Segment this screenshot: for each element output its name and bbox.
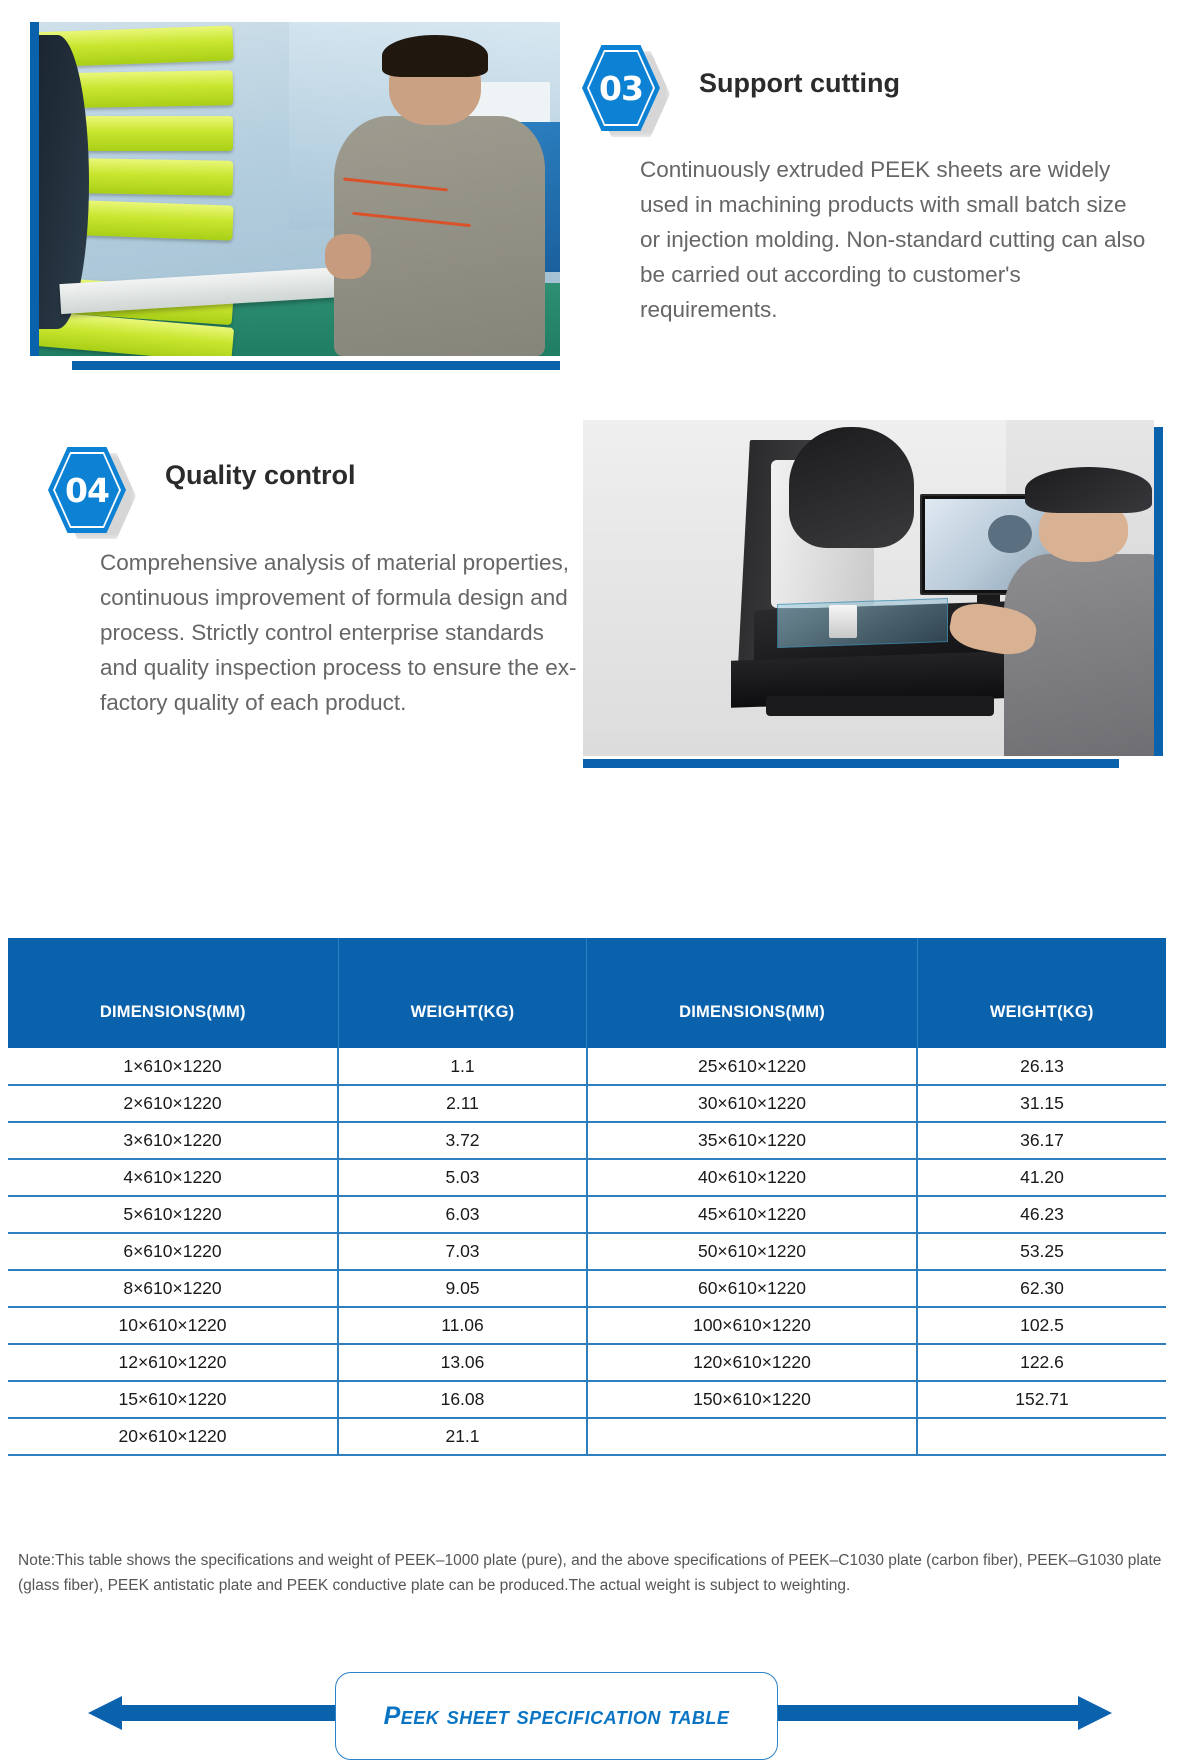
- table-cell: 60×610×1220: [587, 1270, 917, 1307]
- arrow-left-icon: [88, 1696, 122, 1730]
- table-cell: 152.71: [917, 1381, 1166, 1418]
- table-cell: 40×610×1220: [587, 1159, 917, 1196]
- table-cell: 16.08: [338, 1381, 587, 1418]
- table-cell: 45×610×1220: [587, 1196, 917, 1233]
- table-row: 10×610×122011.06100×610×1220102.5: [8, 1307, 1166, 1344]
- table-cell: 62.30: [917, 1270, 1166, 1307]
- photo-accent-right-bar: [1154, 427, 1163, 756]
- spec-table-banner: Peek sheet specification table: [0, 840, 1200, 940]
- column-header-weight-2: WEIGHT(KG): [917, 938, 1166, 1048]
- table-cell: 122.6: [917, 1344, 1166, 1381]
- table-cell: 46.23: [917, 1196, 1166, 1233]
- arrow-right-icon: [1078, 1696, 1112, 1730]
- table-cell: 100×610×1220: [587, 1307, 917, 1344]
- table-cell: 4×610×1220: [8, 1159, 338, 1196]
- table-cell: 50×610×1220: [587, 1233, 917, 1270]
- table-row: 8×610×12209.0560×610×122062.30: [8, 1270, 1166, 1307]
- table-cell: 5×610×1220: [8, 1196, 338, 1233]
- table-row: 15×610×122016.08150×610×1220152.71: [8, 1381, 1166, 1418]
- table-footnote: Note:This table shows the specifications…: [18, 1548, 1186, 1598]
- section-badge-04: 04: [48, 447, 126, 533]
- table-cell: 6.03: [338, 1196, 587, 1233]
- table-cell: 10×610×1220: [8, 1307, 338, 1344]
- table-cell: 102.5: [917, 1307, 1166, 1344]
- table-cell: 21.1: [338, 1418, 587, 1455]
- table-cell: 150×610×1220: [587, 1381, 917, 1418]
- table-cell: 36.17: [917, 1122, 1166, 1159]
- table-cell: 25×610×1220: [587, 1048, 917, 1085]
- table-cell: 2.11: [338, 1085, 587, 1122]
- table-cell: 1×610×1220: [8, 1048, 338, 1085]
- table-cell: 9.05: [338, 1270, 587, 1307]
- table-cell: 7.03: [338, 1233, 587, 1270]
- table-row: 1×610×12201.125×610×122026.13: [8, 1048, 1166, 1085]
- section-badge-03: 03: [582, 45, 660, 131]
- table-cell: [917, 1418, 1166, 1455]
- photo-accent-bottom-bar: [583, 759, 1119, 768]
- table-row: 6×610×12207.0350×610×122053.25: [8, 1233, 1166, 1270]
- table-cell: 11.06: [338, 1307, 587, 1344]
- table-cell: 31.15: [917, 1085, 1166, 1122]
- table-row: 3×610×12203.7235×610×122036.17: [8, 1122, 1166, 1159]
- table-cell: 35×610×1220: [587, 1122, 917, 1159]
- table-row: 2×610×12202.1130×610×122031.15: [8, 1085, 1166, 1122]
- table-cell: 30×610×1220: [587, 1085, 917, 1122]
- table-cell: 41.20: [917, 1159, 1166, 1196]
- table-row: 4×610×12205.0340×610×122041.20: [8, 1159, 1166, 1196]
- table-cell: 26.13: [917, 1048, 1166, 1085]
- table-cell: 20×610×1220: [8, 1418, 338, 1455]
- table-cell: 3×610×1220: [8, 1122, 338, 1159]
- peek-sheet-specification-table: DIMENSIONS(MM) WEIGHT(KG) DIMENSIONS(MM)…: [8, 938, 1166, 1456]
- section-title-quality-control: Quality control: [165, 460, 356, 491]
- table-cell: 13.06: [338, 1344, 587, 1381]
- table-cell: 2×610×1220: [8, 1085, 338, 1122]
- table-cell: 15×610×1220: [8, 1381, 338, 1418]
- support-cutting-image: [39, 22, 560, 356]
- table-cell: 53.25: [917, 1233, 1166, 1270]
- table-cell: 8×610×1220: [8, 1270, 338, 1307]
- section-number-04: 04: [48, 447, 126, 533]
- table-cell: 120×610×1220: [587, 1344, 917, 1381]
- banner-title-box: Peek sheet specification table: [335, 1672, 778, 1760]
- quality-control-image: [583, 420, 1154, 756]
- table-cell: 1.1: [338, 1048, 587, 1085]
- table-cell: [587, 1418, 917, 1455]
- table-cell: 6×610×1220: [8, 1233, 338, 1270]
- column-header-dimensions-2: DIMENSIONS(MM): [587, 938, 917, 1048]
- support-cutting-photo: [30, 22, 560, 370]
- table-row: 12×610×122013.06120×610×1220122.6: [8, 1344, 1166, 1381]
- quality-control-photo: [583, 420, 1163, 768]
- photo-accent-left-bar: [30, 22, 39, 356]
- section-body-quality-control: Comprehensive analysis of material prope…: [100, 545, 580, 720]
- table-row: 20×610×122021.1: [8, 1418, 1166, 1455]
- section-title-support-cutting: Support cutting: [699, 68, 900, 99]
- photo-accent-bottom-bar: [72, 361, 560, 370]
- banner-title-text: Peek sheet specification table: [384, 1702, 730, 1731]
- section-number-03: 03: [582, 45, 660, 131]
- section-body-support-cutting: Continuously extruded PEEK sheets are wi…: [640, 152, 1152, 327]
- table-row: 5×610×12206.0345×610×122046.23: [8, 1196, 1166, 1233]
- column-header-weight-1: WEIGHT(KG): [338, 938, 587, 1048]
- column-header-dimensions-1: DIMENSIONS(MM): [8, 938, 338, 1048]
- table-header-row: DIMENSIONS(MM) WEIGHT(KG) DIMENSIONS(MM)…: [8, 938, 1166, 1048]
- table-cell: 12×610×1220: [8, 1344, 338, 1381]
- table-cell: 5.03: [338, 1159, 587, 1196]
- table-cell: 3.72: [338, 1122, 587, 1159]
